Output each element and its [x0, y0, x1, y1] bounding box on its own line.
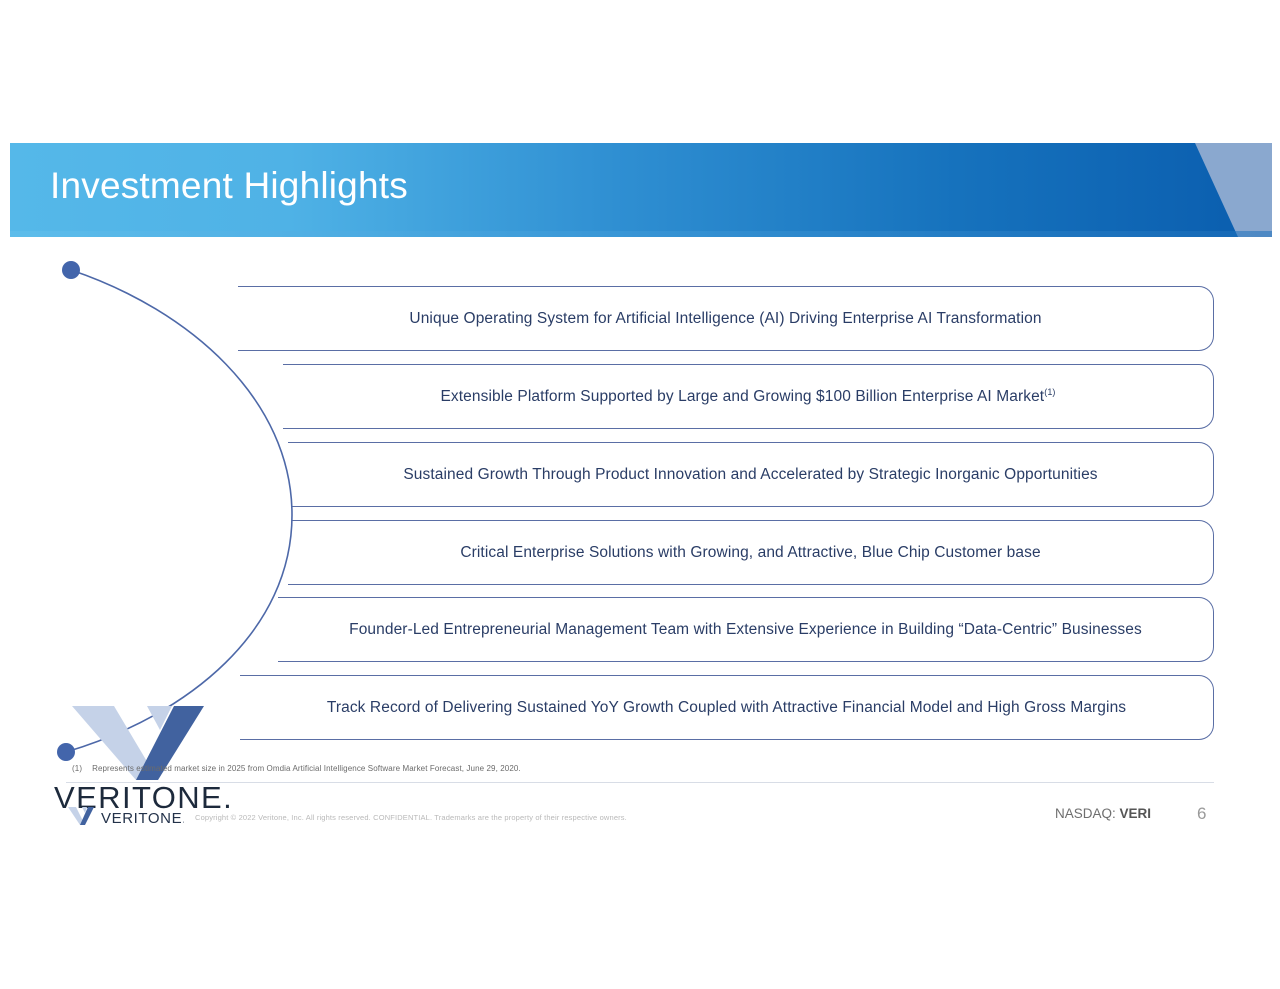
veritone-logo-footer: VERITONE. [66, 803, 184, 829]
ticker-symbol: VERI [1120, 806, 1152, 821]
highlight-box-2[interactable]: Extensible Platform Supported by Large a… [283, 364, 1214, 429]
highlights-diagram: Unique Operating System for Artificial I… [0, 250, 1280, 770]
footer-logo-mark: VERITONE. [66, 803, 184, 829]
veritone-logo-mark: VERITONE. [52, 688, 242, 813]
highlight-box-5[interactable]: Founder-Led Entrepreneurial Management T… [278, 597, 1214, 662]
highlight-label-6: Track Record of Delivering Sustained YoY… [327, 698, 1126, 717]
highlight-label-2: Extensible Platform Supported by Large a… [440, 387, 1055, 406]
title-banner: Investment Highlights [10, 143, 1272, 237]
veritone-logo-center: VERITONE. [52, 688, 242, 813]
footnote-text: Represents estimated market size in 2025… [92, 764, 521, 773]
highlight-box-3[interactable]: Sustained Growth Through Product Innovat… [288, 442, 1214, 507]
page-number: 6 [1197, 804, 1206, 824]
page-title: Investment Highlights [50, 165, 408, 207]
highlight-box-4[interactable]: Critical Enterprise Solutions with Growi… [288, 520, 1214, 585]
highlight-label-4: Critical Enterprise Solutions with Growi… [460, 543, 1040, 562]
highlight-box-1[interactable]: Unique Operating System for Artificial I… [238, 286, 1214, 351]
footnote: (1)Represents estimated market size in 2… [72, 764, 521, 773]
ticker-info: NASDAQ: VERI [1055, 806, 1151, 821]
footer-logo-wordmark: VERITONE. [101, 810, 184, 827]
highlight-superscript-2: (1) [1044, 387, 1055, 397]
ticker-label: NASDAQ: [1055, 806, 1116, 821]
highlight-label-5: Founder-Led Entrepreneurial Management T… [349, 620, 1142, 639]
slide-canvas: Investment Highlights Unique Operating S… [0, 0, 1280, 989]
highlight-label-3: Sustained Growth Through Product Innovat… [403, 465, 1097, 484]
highlight-label-1: Unique Operating System for Artificial I… [409, 309, 1041, 328]
footnote-divider [66, 782, 1214, 783]
highlight-box-6[interactable]: Track Record of Delivering Sustained YoY… [240, 675, 1214, 740]
footnote-marker: (1) [72, 764, 82, 773]
copyright-text: Copyright © 2022 Veritone, Inc. All righ… [195, 813, 627, 822]
